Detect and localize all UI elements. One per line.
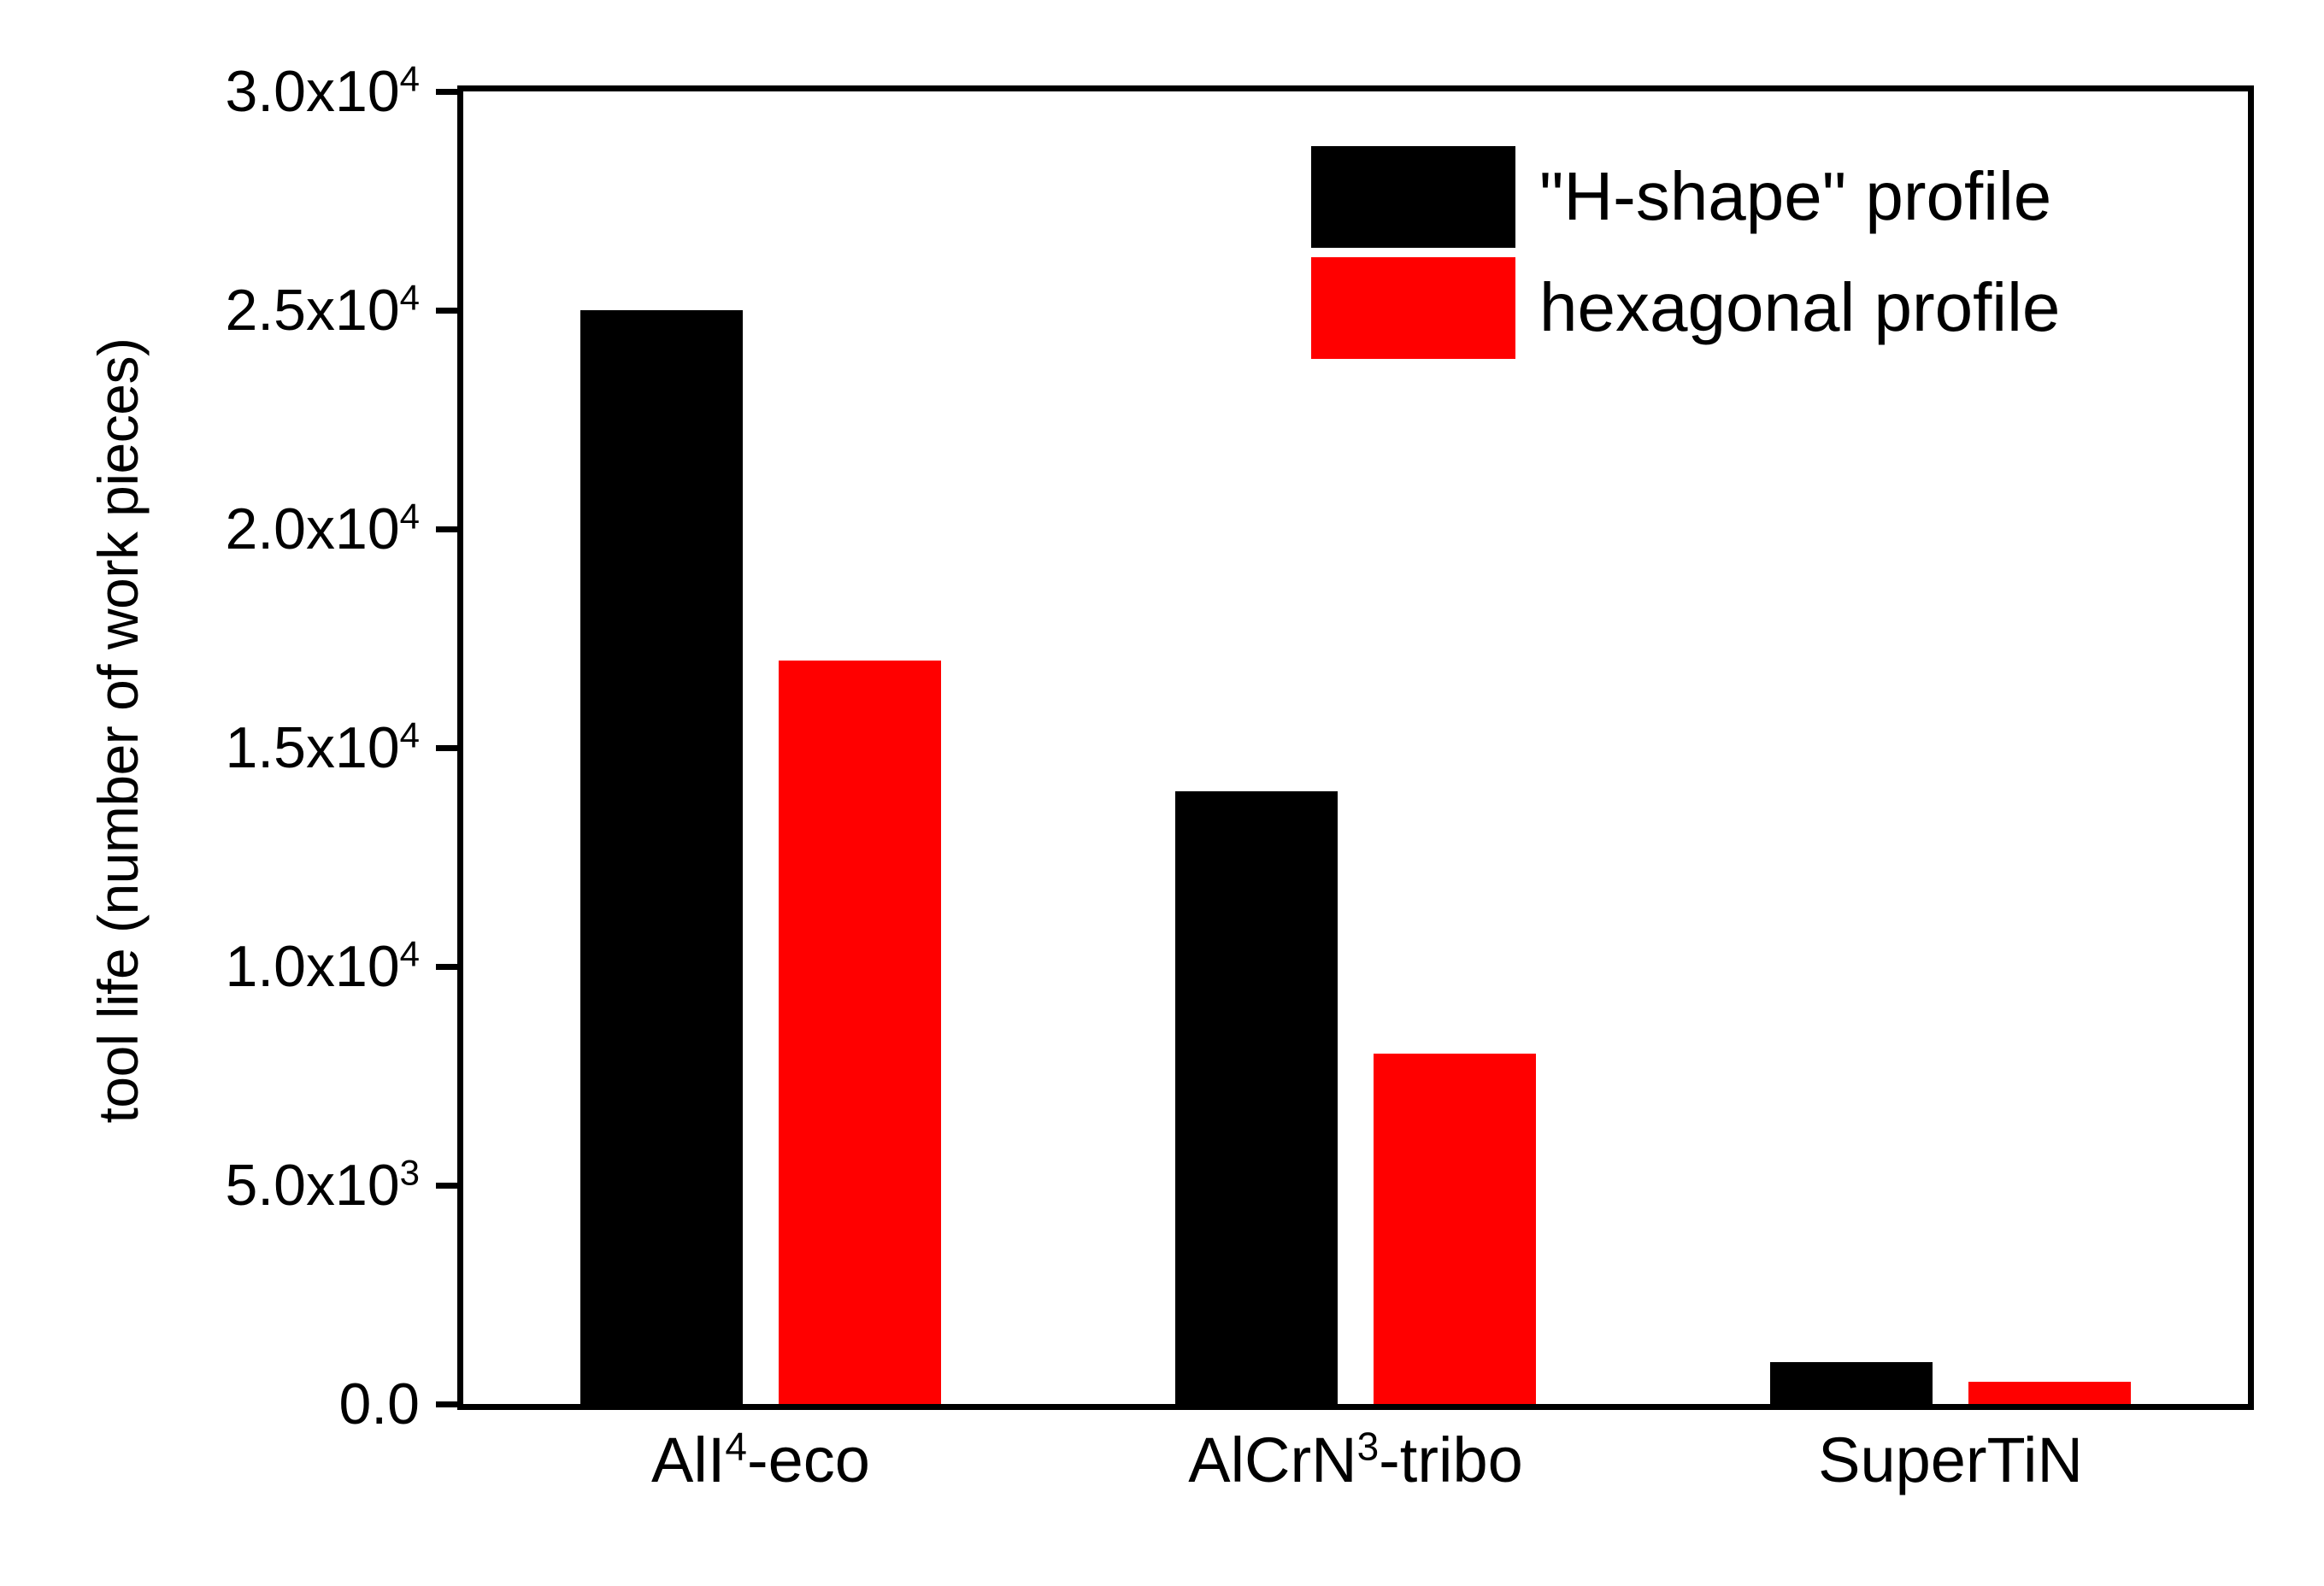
y-axis-tick-mark <box>436 964 463 970</box>
legend-swatch-icon-hexagonal <box>1311 257 1515 359</box>
y-axis-tick-label: 2.0x104 <box>0 500 420 558</box>
bar <box>1968 1382 2131 1404</box>
bar <box>1374 1054 1536 1404</box>
x-axis-tick-label: SuperTiN <box>1653 1429 2248 1492</box>
legend-label-hexagonal: hexagonal profile <box>1539 273 2060 342</box>
y-axis-tick-mark <box>436 526 463 532</box>
legend-swatch-icon-h-shape <box>1311 146 1515 248</box>
y-axis-tick-label: 1.0x104 <box>0 937 420 996</box>
x-axis-tick-label: AlCrN3-tribo <box>1058 1429 1653 1492</box>
y-axis-tick-mark <box>436 1183 463 1189</box>
bar <box>779 661 941 1404</box>
y-axis-tick-label: 5.0x103 <box>0 1156 420 1214</box>
y-axis-tick-label: 3.0x104 <box>0 62 420 120</box>
y-axis-tick-mark <box>436 308 463 314</box>
bar <box>580 310 743 1404</box>
legend-label-h-shape: "H-shape" profile <box>1539 162 2051 231</box>
y-axis-tick-mark <box>436 89 463 95</box>
y-axis-tick-mark <box>436 745 463 751</box>
legend-item-h-shape: "H-shape" profile <box>1311 141 2251 252</box>
x-axis-tick-label: AlI4-eco <box>463 1429 1058 1492</box>
y-axis-tick-label: 0.0 <box>0 1375 420 1433</box>
bar <box>1770 1362 1933 1404</box>
chart-legend: "H-shape" profile hexagonal profile <box>1311 141 2251 363</box>
bar <box>1175 791 1338 1404</box>
y-axis-tick-label: 2.5x104 <box>0 281 420 339</box>
y-axis-tick-label: 1.5x104 <box>0 719 420 777</box>
plot-inner: "H-shape" profile hexagonal profile <box>463 91 2248 1404</box>
plot-area: "H-shape" profile hexagonal profile <box>457 85 2254 1410</box>
bar-chart-figure: tool life (number of work pieces) 0.05.0… <box>0 0 2324 1586</box>
y-axis-tick-mark <box>436 1401 463 1407</box>
legend-item-hexagonal: hexagonal profile <box>1311 252 2251 363</box>
